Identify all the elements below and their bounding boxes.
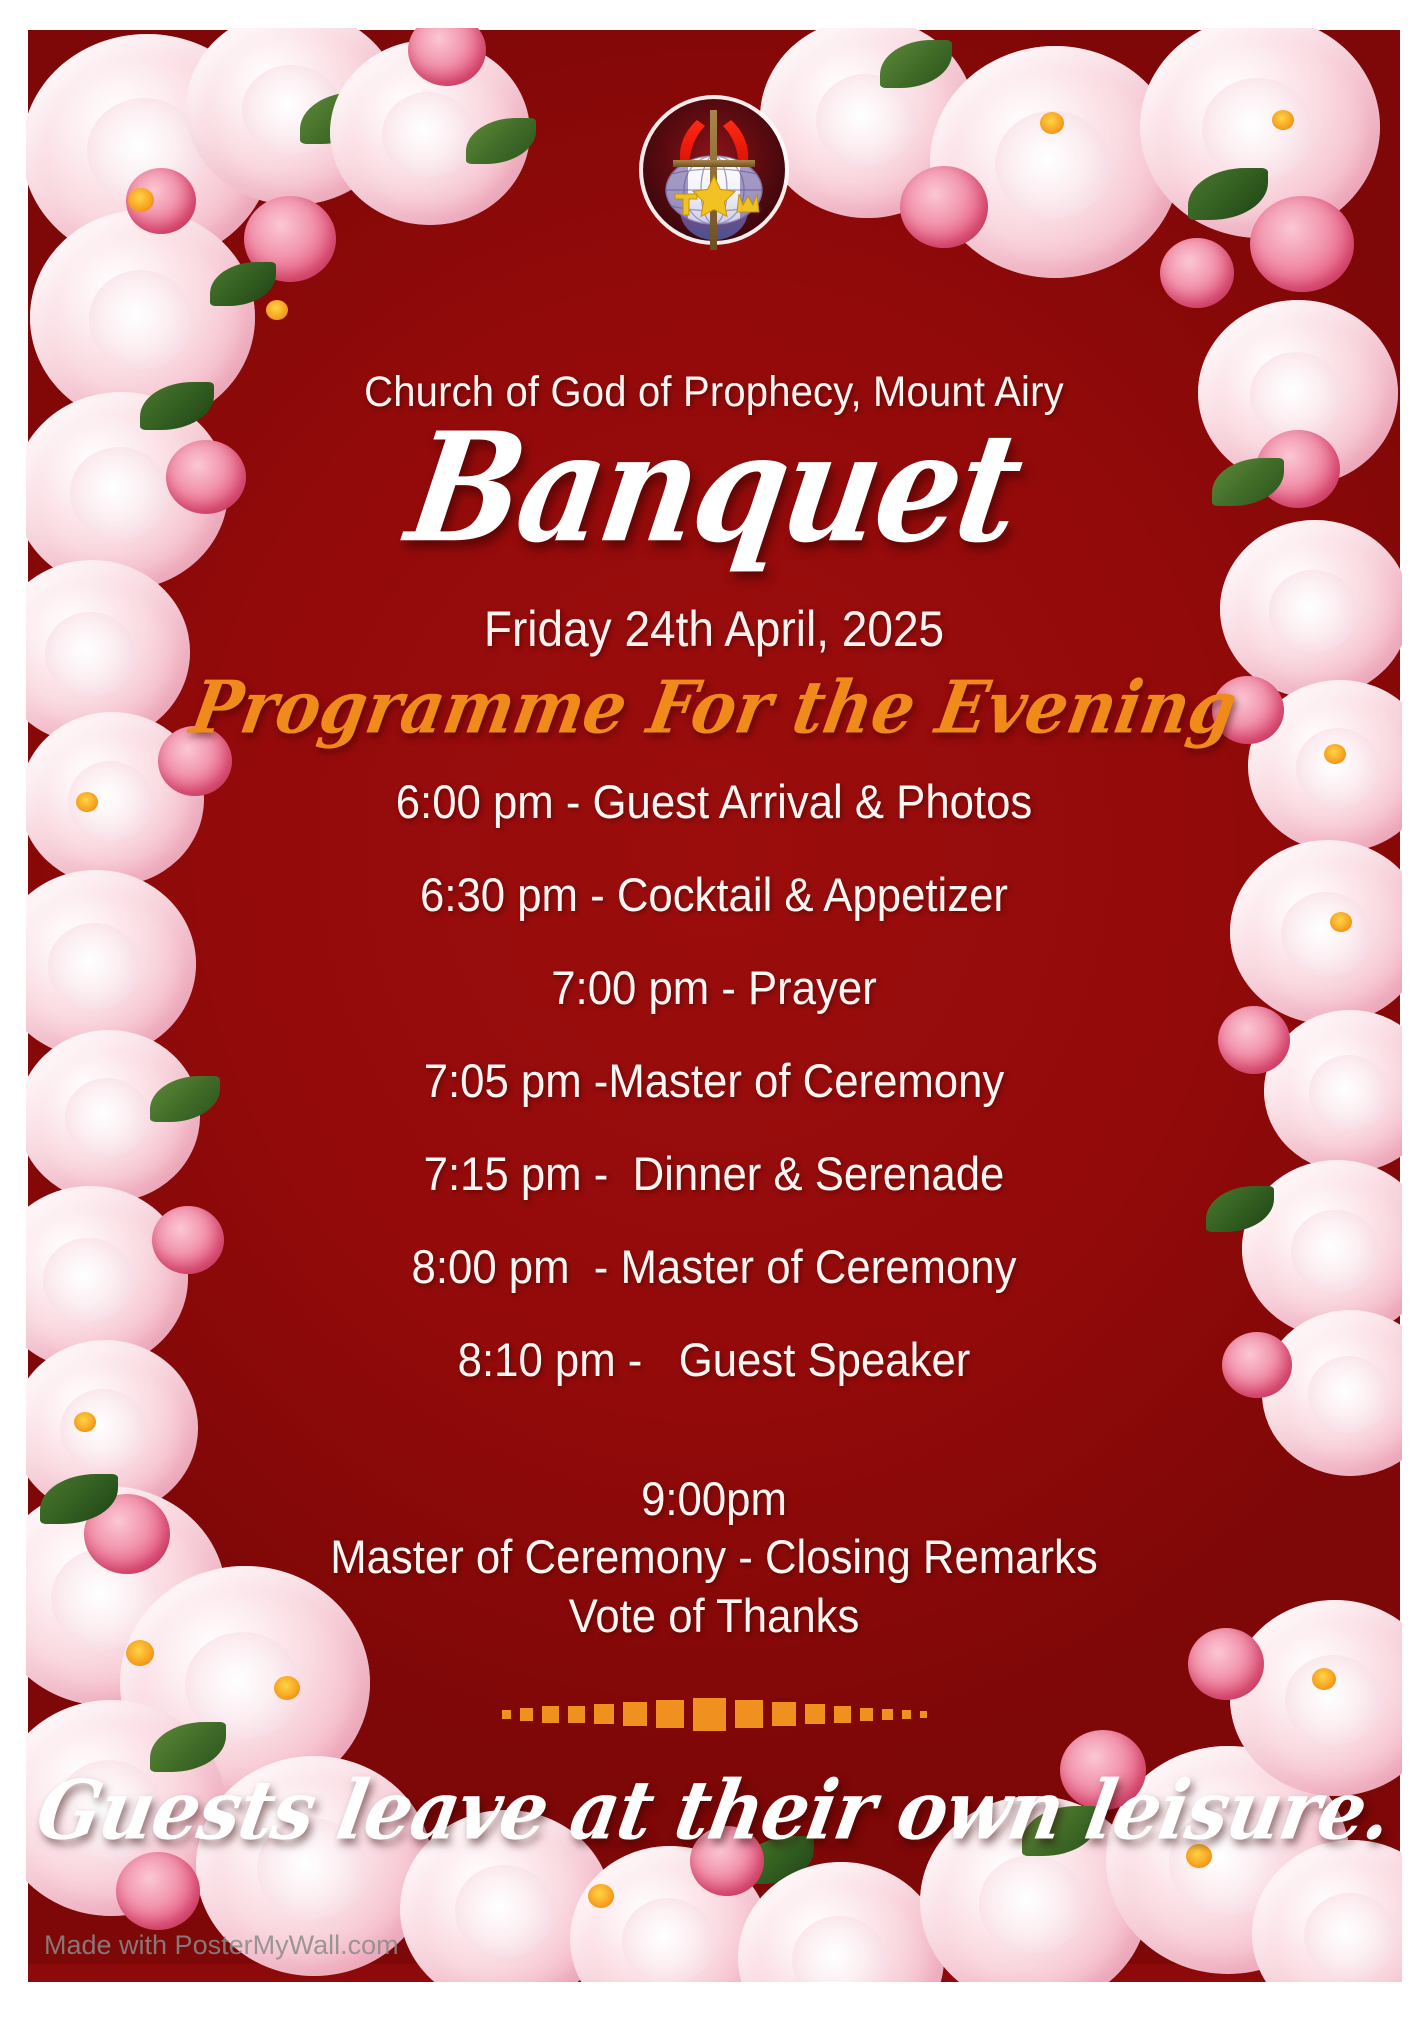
church-logo (635, 82, 793, 258)
divider-square-8 (735, 1700, 763, 1728)
programme-schedule-list: 6:00 pm - Guest Arrival & Photos 6:30 pm… (0, 778, 1428, 1429)
bottom-rule (28, 1964, 1400, 1982)
poster: Church of God of Prophecy, Mount Airy Ba… (0, 0, 1428, 2028)
page-title: Banquet (0, 410, 1428, 568)
programme-heading: Programme For the Evening (0, 664, 1428, 750)
vote-of-thanks: Vote of Thanks (50, 1587, 1378, 1645)
schedule-item: 7:00 pm - Prayer (50, 964, 1378, 1011)
divider-square-6 (656, 1700, 684, 1728)
divider-square-13 (882, 1709, 893, 1720)
schedule-item: 7:15 pm - Dinner & Serenade (50, 1150, 1378, 1197)
divider-square-3 (568, 1706, 585, 1723)
closing-time: 9:00pm (50, 1470, 1378, 1528)
postermywall-watermark: Made with PosterMyWall.com (44, 1930, 399, 1961)
schedule-item: 8:10 pm - Guest Speaker (50, 1336, 1378, 1383)
decorative-divider (0, 1692, 1428, 1736)
divider-square-11 (834, 1706, 851, 1723)
event-date: Friday 24th April, 2025 (57, 600, 1371, 658)
schedule-item: 6:00 pm - Guest Arrival & Photos (50, 778, 1378, 825)
divider-square-15 (920, 1711, 927, 1718)
divider-square-5 (623, 1702, 647, 1726)
divider-square-4 (594, 1704, 614, 1724)
divider-square-0 (502, 1710, 511, 1719)
schedule-item: 8:00 pm - Master of Ceremony (50, 1243, 1378, 1290)
divider-square-2 (542, 1706, 559, 1723)
divider-square-14 (902, 1710, 911, 1719)
closing-remarks: Master of Ceremony - Closing Remarks (50, 1528, 1378, 1586)
divider-square-7 (693, 1698, 726, 1731)
divider-square-12 (860, 1708, 873, 1721)
schedule-item: 6:30 pm - Cocktail & Appetizer (50, 871, 1378, 918)
church-of-god-of-prophecy-emblem-icon (635, 82, 793, 258)
divider-square-1 (520, 1708, 533, 1721)
divider-square-10 (805, 1704, 825, 1724)
divider-square-9 (772, 1702, 796, 1726)
closing-block: 9:00pm Master of Ceremony - Closing Rema… (0, 1470, 1428, 1645)
schedule-item: 7:05 pm -Master of Ceremony (50, 1057, 1378, 1104)
closing-note: Guests leave at their own leisure. (0, 1764, 1428, 1859)
